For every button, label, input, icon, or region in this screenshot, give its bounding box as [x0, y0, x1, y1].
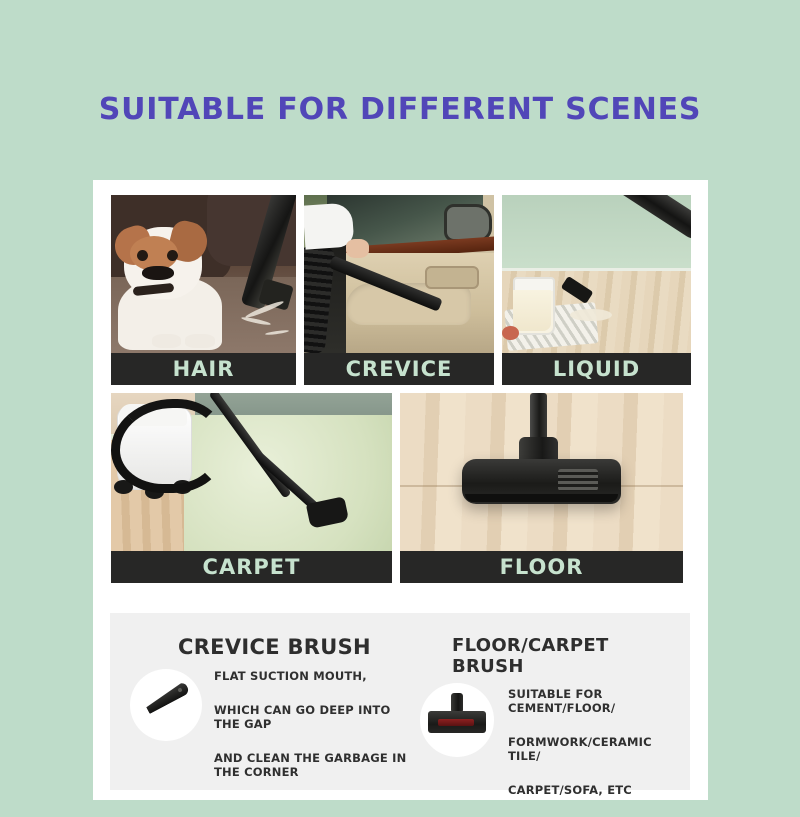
floor-carpet-brush-description: SUITABLE FOR CEMENT/FLOOR/ FORMWORK/CERA… [508, 687, 685, 797]
scene-caption-liquid: LIQUID [502, 353, 691, 385]
floor-carpet-brush-icon [420, 683, 494, 757]
scene-tile-carpet[interactable]: CARPET [111, 393, 392, 583]
milk-spill-on-table-photo [502, 195, 691, 353]
crevice-brush-description: FLAT SUCTION MOUTH, WHICH CAN GO DEEP IN… [214, 669, 420, 779]
scene-caption-crevice: CREVICE [304, 353, 494, 385]
crevice-brush-title: CREVICE BRUSH [178, 635, 420, 659]
scene-row-2: CARPET FLOOR [111, 393, 691, 583]
floor-carpet-brush-line-1: SUITABLE FOR CEMENT/FLOOR/ [508, 687, 685, 715]
crevice-brush-icon [130, 669, 202, 741]
crevice-brush-line-1: FLAT SUCTION MOUTH, [214, 669, 420, 683]
crevice-brush-line-3: AND CLEAN THE GARBAGE IN THE CORNER [214, 751, 420, 779]
crevice-brush-section: CREVICE BRUSH FLAT SUCTION MOUTH, WHICH … [130, 613, 420, 799]
floor-carpet-brush-title: FLOOR/CARPET BRUSH [452, 635, 685, 677]
crevice-brush-line-2: WHICH CAN GO DEEP INTO THE GAP [214, 703, 420, 731]
accessories-info-panel: CREVICE BRUSH FLAT SUCTION MOUTH, WHICH … [110, 613, 690, 790]
scene-tile-floor[interactable]: FLOOR [400, 393, 683, 583]
scene-caption-hair: HAIR [111, 353, 296, 385]
scene-caption-floor: FLOOR [400, 551, 683, 583]
brush-head-on-wood-floor-photo [400, 393, 683, 551]
page-title: SUITABLE FOR DIFFERENT SCENES [0, 92, 800, 127]
dog-on-couch-photo [111, 195, 296, 353]
scene-tile-crevice[interactable]: CREVICE [304, 195, 494, 385]
floor-carpet-brush-line-3: CARPET/SOFA, ETC [508, 783, 685, 797]
content-card: HAIR CREVICE LIQUID [93, 180, 708, 800]
crevice-brush-body: FLAT SUCTION MOUTH, WHICH CAN GO DEEP IN… [130, 669, 420, 779]
floor-carpet-brush-section: FLOOR/CARPET BRUSH SUITABLE FOR CEMENT/F… [420, 613, 685, 817]
car-door-interior-photo [304, 195, 494, 353]
scene-row-1: HAIR CREVICE LIQUID [111, 195, 691, 385]
floor-carpet-brush-body: SUITABLE FOR CEMENT/FLOOR/ FORMWORK/CERA… [420, 687, 685, 797]
scene-caption-carpet: CARPET [111, 551, 392, 583]
vacuum-on-carpet-photo [111, 393, 392, 551]
scene-grid: HAIR CREVICE LIQUID [111, 195, 691, 591]
scene-tile-liquid[interactable]: LIQUID [502, 195, 691, 385]
scene-tile-hair[interactable]: HAIR [111, 195, 296, 385]
floor-carpet-brush-line-2: FORMWORK/CERAMIC TILE/ [508, 735, 685, 763]
